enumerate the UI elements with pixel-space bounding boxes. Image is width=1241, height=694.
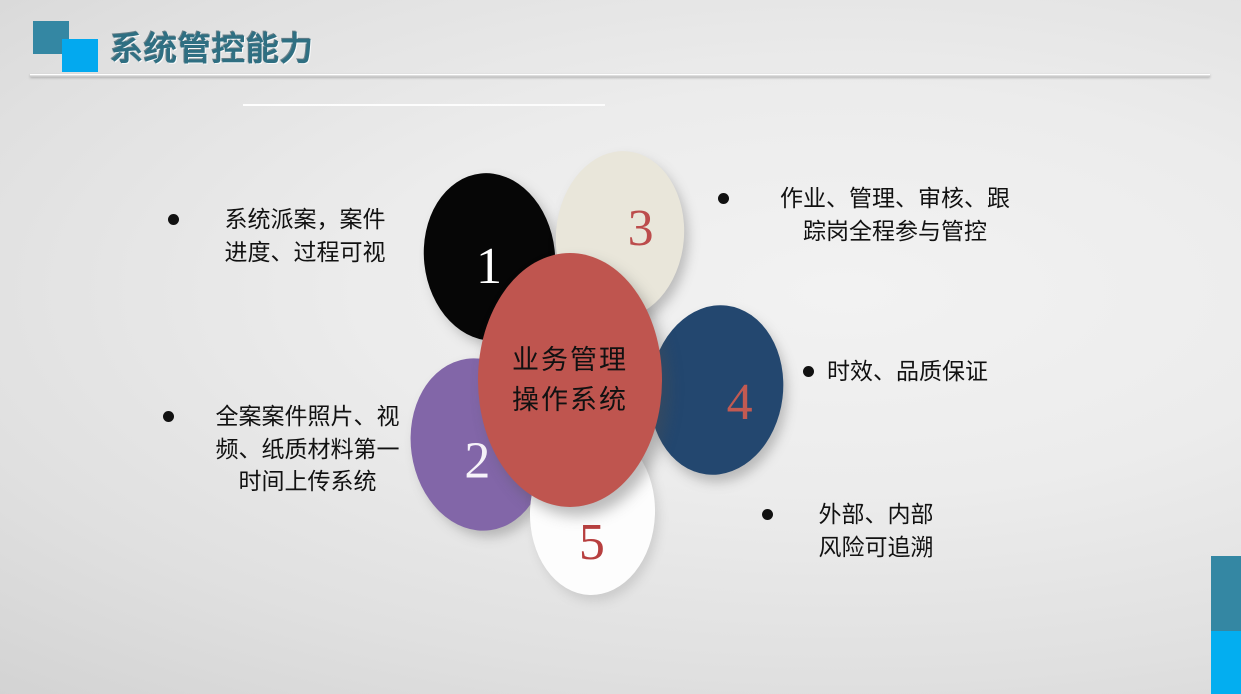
center-label-line-1: 业务管理 xyxy=(512,340,628,381)
bullet-dot-icon xyxy=(762,509,773,520)
petal-4-number: 4 xyxy=(726,377,752,429)
bullet-left-2-text: 全案案件照片、视 频、纸质材料第一 时间上传系统 xyxy=(187,400,428,498)
bullet-right-3-text: 外部、内部 风险可追溯 xyxy=(786,498,966,563)
petal-4[interactable]: 4 xyxy=(640,298,793,483)
bullet-left-2: 全案案件照片、视 频、纸质材料第一 时间上传系统 xyxy=(163,400,428,498)
bullet-right-1: 作业、管理、审核、跟 踪岗全程参与管控 xyxy=(718,182,1048,247)
center-label-line-2: 操作系统 xyxy=(512,380,628,421)
petal-diagram: 1 3 2 4 5 业务管理 操作系统 xyxy=(0,0,1241,694)
petal-3-number: 3 xyxy=(628,203,654,255)
edge-marker-cyan xyxy=(1211,631,1241,694)
bullet-right-3: 外部、内部 风险可追溯 xyxy=(762,498,1012,563)
bullet-dot-icon xyxy=(168,214,179,225)
bullet-dot-icon xyxy=(163,411,174,422)
petal-2-number: 2 xyxy=(464,435,490,487)
bullet-right-1-text: 作业、管理、审核、跟 踪岗全程参与管控 xyxy=(742,182,1048,247)
petal-1-number: 1 xyxy=(476,241,502,293)
center-ellipse[interactable]: 业务管理 操作系统 xyxy=(478,253,662,507)
bullet-right-2: 时效、品质保证 xyxy=(803,355,1053,388)
edge-marker-teal xyxy=(1211,556,1241,632)
bullet-left-1: 系统派案，案件 进度、过程可视 xyxy=(168,203,418,268)
petal-5-number: 5 xyxy=(578,516,604,568)
bullet-dot-icon xyxy=(803,366,814,377)
bullet-dot-icon xyxy=(718,193,729,204)
bullet-left-1-text: 系统派案，案件 进度、过程可视 xyxy=(192,203,418,268)
bullet-right-2-text: 时效、品质保证 xyxy=(827,355,988,388)
slide-canvas: 系统管控能力 1 3 2 4 5 业务管理 操作系统 系统派案，案件 进度、过程… xyxy=(0,0,1241,694)
